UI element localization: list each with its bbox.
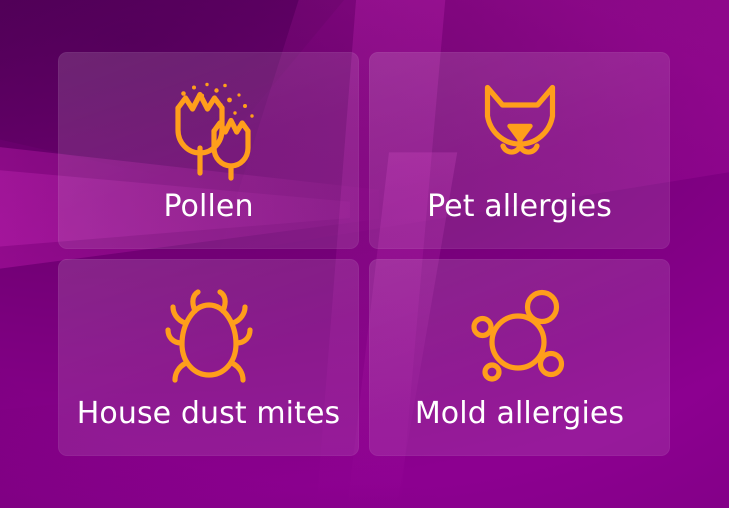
- category-label-pet-allergies: Pet allergies: [427, 190, 612, 223]
- category-card-house-dust-mites[interactable]: House dust mites: [58, 259, 359, 456]
- mold-spores-icon: [468, 285, 572, 389]
- category-card-pet-allergies[interactable]: Pet allergies: [369, 52, 670, 249]
- dust-mite-bug-icon: [157, 285, 261, 389]
- category-label-house-dust-mites: House dust mites: [77, 397, 341, 430]
- category-card-pollen[interactable]: Pollen: [58, 52, 359, 249]
- category-label-mold-allergies: Mold allergies: [415, 397, 624, 430]
- category-card-mold-allergies[interactable]: Mold allergies: [369, 259, 670, 456]
- tulip-flowers-icon: [157, 78, 261, 182]
- allergy-category-grid-screen: Pollen Pet allergies: [0, 0, 729, 508]
- category-label-pollen: Pollen: [163, 190, 253, 223]
- cat-face-icon: [468, 78, 572, 182]
- category-card-grid: Pollen Pet allergies: [58, 52, 670, 458]
